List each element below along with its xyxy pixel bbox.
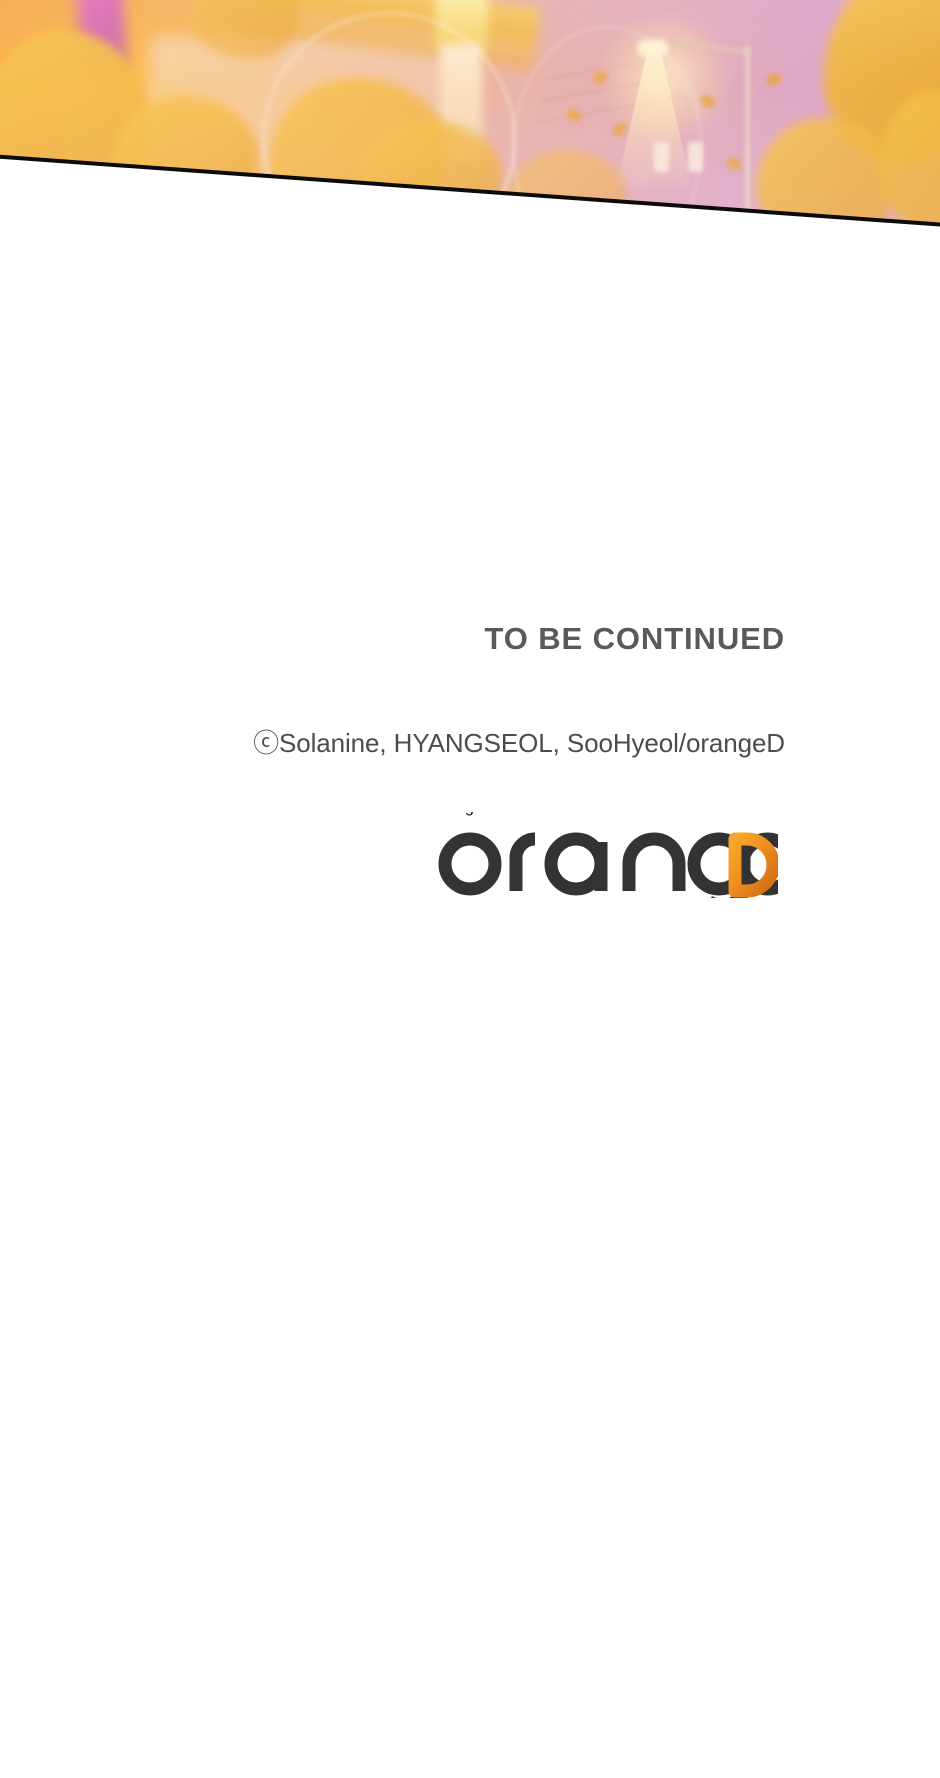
episode-end-card: TO BE CONTINUED ⓒSolanine, HYANGSEOL, So… — [0, 232, 940, 1778]
oranged-logo: orangeD — [433, 812, 778, 898]
to-be-continued-text: TO BE CONTINUED — [484, 621, 785, 657]
logo-wordmark-text: orangeD — [433, 812, 494, 816]
webtoon-episode-page: Blurred warm orange and pink city street… — [0, 0, 940, 1778]
streetlamp-pole — [745, 46, 750, 226]
copyright-credit-text: ⓒSolanine, HYANGSEOL, SooHyeol/orangeD — [253, 723, 785, 760]
oranged-logo-mark: orangeD — [433, 812, 778, 898]
street-scene-panel: Blurred warm orange and pink city street… — [0, 0, 940, 232]
